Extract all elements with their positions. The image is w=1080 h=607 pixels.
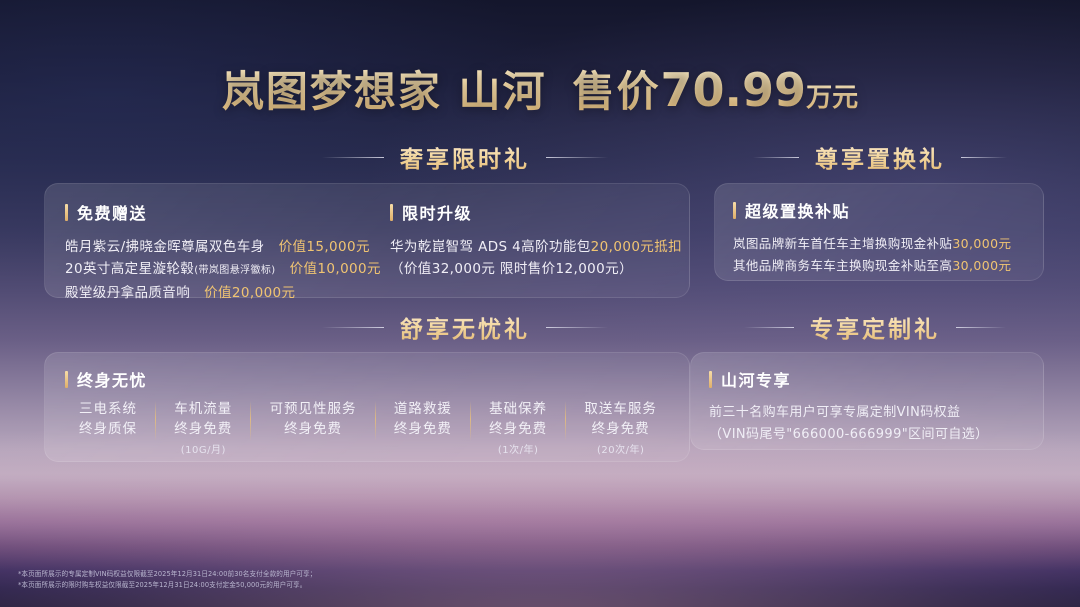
service-note: (1次/年): [489, 441, 547, 456]
section-header-worryfree-label: 舒享无忧礼: [400, 310, 530, 344]
section-header-tradein-label: 尊享置换礼: [815, 140, 945, 174]
list-item: 道路救援 终身免费: [378, 399, 468, 441]
service-divider: [565, 401, 566, 441]
section-header-custom-label: 专享定制礼: [810, 310, 940, 344]
section-header-luxury-label: 奢享限时礼: [400, 140, 530, 174]
card-limited-upgrade-title: 限时升级: [390, 200, 682, 224]
gift-value: 价值20,000元: [204, 285, 295, 301]
gift-text: 皓月紫云/拂晓金晖尊属双色车身: [65, 239, 265, 255]
service-name: 三电系统: [79, 399, 137, 419]
service-term: 终身免费: [489, 419, 547, 439]
gift-value: 价值10,000元: [290, 261, 381, 277]
section-header-luxury: 奢享限时礼: [240, 142, 690, 172]
accent-bar: [65, 204, 68, 221]
upgrade-text: 华为乾崑智驾 ADS 4高阶功能包: [390, 239, 591, 255]
subsidy-text: 岚图品牌新车首任车主增换购现金补贴: [733, 236, 952, 251]
service-name: 基础保养: [489, 399, 547, 419]
title-price: 70.99: [661, 63, 807, 117]
card-worryfree-heading: 终身无忧: [77, 367, 147, 391]
divider-line-left: [744, 327, 794, 328]
list-item: 皓月紫云/拂晓金晖尊属双色车身价值15,000元: [65, 236, 381, 258]
service-list: 三电系统 终身质保 车机流量 终身免费 (10G/月) 可预见性服务 终身免费 …: [63, 399, 673, 456]
service-term: 终身免费: [270, 419, 357, 439]
accent-bar: [733, 202, 736, 219]
divider-line-right: [961, 157, 1007, 158]
service-term: 终身免费: [174, 419, 232, 439]
list-item: 取送车服务 终身免费 (20次/年): [568, 399, 673, 456]
accent-bar: [65, 371, 68, 388]
title-price-unit: 万元: [806, 77, 858, 114]
section-header-tradein: 尊享置换礼: [700, 142, 1060, 172]
accent-bar: [709, 371, 712, 388]
service-divider: [470, 401, 471, 441]
upgrade-value: 20,000元抵扣: [591, 239, 682, 255]
card-tradein-heading: 超级置换补贴: [745, 198, 850, 222]
divider-line-right: [956, 327, 1006, 328]
card-tradein-title: 超级置换补贴: [733, 198, 1011, 222]
list-item: 殿堂级丹拿品质音响价值20,000元: [65, 282, 381, 304]
list-item: 华为乾崑智驾 ADS 4高阶功能包20,000元抵扣: [390, 236, 682, 258]
list-item: 三电系统 终身质保: [63, 399, 153, 441]
gift-text: 殿堂级丹拿品质音响: [65, 285, 190, 301]
service-note: (10G/月): [174, 441, 232, 456]
panel-luxury: 免费赠送 皓月紫云/拂晓金晖尊属双色车身价值15,000元 20英寸高定星漩轮毂…: [44, 183, 690, 298]
footnote-item: *本页面所展示的专属定制VIN码权益仅限截至2025年12月31日24:00前3…: [18, 569, 316, 580]
panel-tradein: 超级置换补贴 岚图品牌新车首任车主增换购现金补贴30,000元 其他品牌商务车车…: [714, 183, 1044, 281]
accent-bar: [390, 204, 393, 221]
gift-value: 价值15,000元: [279, 239, 370, 255]
service-divider: [250, 401, 251, 441]
title-model: 岚图梦想家 山河: [222, 58, 547, 119]
section-header-custom: 专享定制礼: [690, 312, 1060, 342]
list-item: （价值32,000元 限时售价12,000元）: [390, 258, 682, 280]
divider-line-left: [322, 327, 384, 328]
card-free-gift-title: 免费赠送: [65, 200, 381, 224]
footnotes: *本页面所展示的专属定制VIN码权益仅限截至2025年12月31日24:00前3…: [18, 569, 316, 591]
gift-text: 20英寸高定星漩轮毂: [65, 261, 194, 277]
list-item: （VIN码尾号"666000-666999"区间可自选）: [709, 424, 989, 446]
card-tradein-subsidy: 超级置换补贴 岚图品牌新车首任车主增换购现金补贴30,000元 其他品牌商务车车…: [733, 198, 1011, 277]
title-price-label: 售价: [573, 58, 661, 119]
card-worryfree-title: 终身无忧: [65, 367, 147, 391]
service-note: (20次/年): [584, 441, 657, 456]
subsidy-value: 30,000元: [952, 258, 1011, 273]
subsidy-value: 30,000元: [952, 236, 1011, 251]
card-limited-upgrade-heading: 限时升级: [402, 200, 472, 224]
card-limited-upgrade: 限时升级 华为乾崑智驾 ADS 4高阶功能包20,000元抵扣 （价值32,00…: [390, 200, 682, 280]
divider-line-right: [546, 157, 608, 158]
page-title: 岚图梦想家 山河售价70.99万元: [0, 58, 1080, 119]
card-custom-title: 山河专享: [709, 367, 989, 391]
service-name: 车机流量: [174, 399, 232, 419]
card-lifetime-worryfree: 终身无忧: [65, 367, 147, 391]
card-shanhe-exclusive: 山河专享 前三十名购车用户可享专属定制VIN码权益 （VIN码尾号"666000…: [709, 367, 989, 446]
card-custom-heading: 山河专享: [721, 367, 791, 391]
panel-worryfree: 终身无忧 三电系统 终身质保 车机流量 终身免费 (10G/月) 可预见性服务 …: [44, 352, 690, 462]
divider-line-left: [322, 157, 384, 158]
section-header-worryfree: 舒享无忧礼: [240, 312, 690, 342]
service-divider: [375, 401, 376, 441]
service-term: 终身质保: [79, 419, 137, 439]
list-item: 20英寸高定星漩轮毂(带岚图悬浮徽标)价值10,000元: [65, 258, 381, 282]
footnote-item: *本页面所展示的限时购车权益仅限截至2025年12月31日24:00支付定金50…: [18, 580, 316, 591]
list-item: 岚图品牌新车首任车主增换购现金补贴30,000元: [733, 233, 1011, 255]
card-free-gift: 免费赠送 皓月紫云/拂晓金晖尊属双色车身价值15,000元 20英寸高定星漩轮毂…: [65, 200, 381, 304]
panel-custom: 山河专享 前三十名购车用户可享专属定制VIN码权益 （VIN码尾号"666000…: [690, 352, 1044, 450]
list-item: 前三十名购车用户可享专属定制VIN码权益: [709, 402, 989, 424]
gift-note: (带岚图悬浮徽标): [194, 265, 275, 276]
divider-line-left: [753, 157, 799, 158]
service-name: 取送车服务: [584, 399, 657, 419]
service-name: 可预见性服务: [270, 399, 357, 419]
list-item: 其他品牌商务车车主换购现金补贴至高30,000元: [733, 255, 1011, 277]
card-free-gift-heading: 免费赠送: [77, 200, 147, 224]
list-item: 车机流量 终身免费 (10G/月): [158, 399, 248, 456]
subsidy-text: 其他品牌商务车车主换购现金补贴至高: [733, 258, 952, 273]
divider-line-right: [546, 327, 608, 328]
list-item: 可预见性服务 终身免费: [254, 399, 373, 441]
service-term: 终身免费: [584, 419, 657, 439]
list-item: 基础保养 终身免费 (1次/年): [473, 399, 563, 456]
service-name: 道路救援: [394, 399, 452, 419]
service-term: 终身免费: [394, 419, 452, 439]
service-divider: [155, 401, 156, 441]
